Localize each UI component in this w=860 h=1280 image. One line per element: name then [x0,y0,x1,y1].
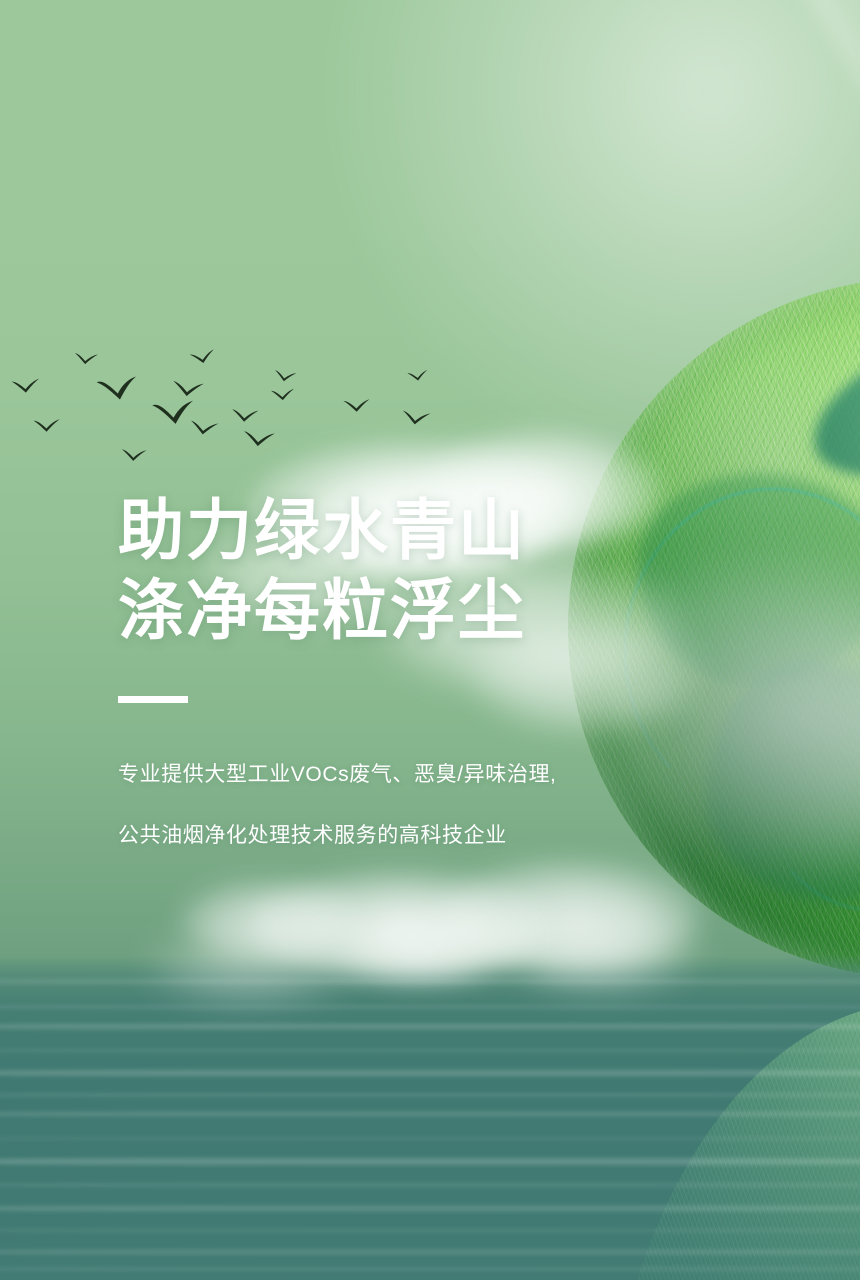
bird-icon [339,397,374,416]
birds-flock [0,330,470,460]
bird-icon [7,376,45,398]
bird-icon [397,408,435,430]
bird-icon [228,407,263,426]
bird-icon [405,368,431,385]
headline-line-1: 助力绿水青山 [118,490,758,570]
bird-icon [271,368,299,385]
bird-icon [237,429,280,452]
poster-banner: 助力绿水青山 涤净每粒浮尘 专业提供大型工业VOCs废气、恶臭/异味治理, 公共… [0,0,860,1280]
headline-divider [118,696,188,703]
bird-icon [187,347,220,369]
subtitle-line-1: 专业提供大型工业VOCs废气、恶臭/异味治理, [118,755,758,795]
bird-icon [30,417,65,436]
headline-line-2: 涤净每粒浮尘 [118,570,758,650]
globe-reflection [600,1002,860,1280]
bird-icon [118,447,151,464]
bird-icon [267,387,298,405]
bird-icon [72,351,101,368]
copy-block: 助力绿水青山 涤净每粒浮尘 专业提供大型工业VOCs废气、恶臭/异味治理, 公共… [118,490,758,877]
subtitle-line-2: 公共油烟净化处理技术服务的高科技企业 [118,816,758,856]
bird-icon [93,366,145,409]
reflection-fade [600,1002,860,1280]
